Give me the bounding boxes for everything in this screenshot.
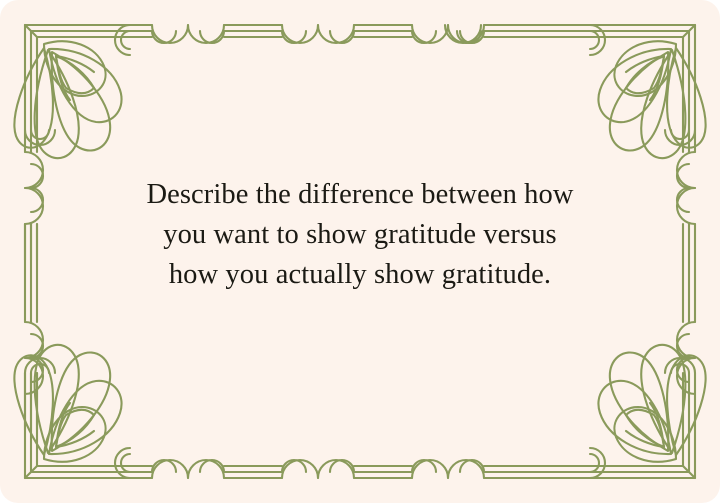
prompt-line-2: you want to show gratitude versus xyxy=(60,215,660,255)
frame-edge-bottom xyxy=(130,460,590,478)
corner-ornament-bottom-right xyxy=(590,345,706,478)
frame-edge-right xyxy=(677,130,695,394)
prompt-card: Describe the difference between how you … xyxy=(0,0,720,503)
corner-ornament-bottom-left xyxy=(14,345,130,478)
frame-edge-top xyxy=(130,25,590,43)
frame-edge-left xyxy=(25,130,43,430)
prompt-text: Describe the difference between how you … xyxy=(60,175,660,295)
corner-ornament-top-left xyxy=(14,25,130,158)
corner-ornament-top-right xyxy=(590,25,706,158)
prompt-line-3: how you actually show gratitude. xyxy=(60,255,660,295)
prompt-line-1: Describe the difference between how xyxy=(60,175,660,215)
